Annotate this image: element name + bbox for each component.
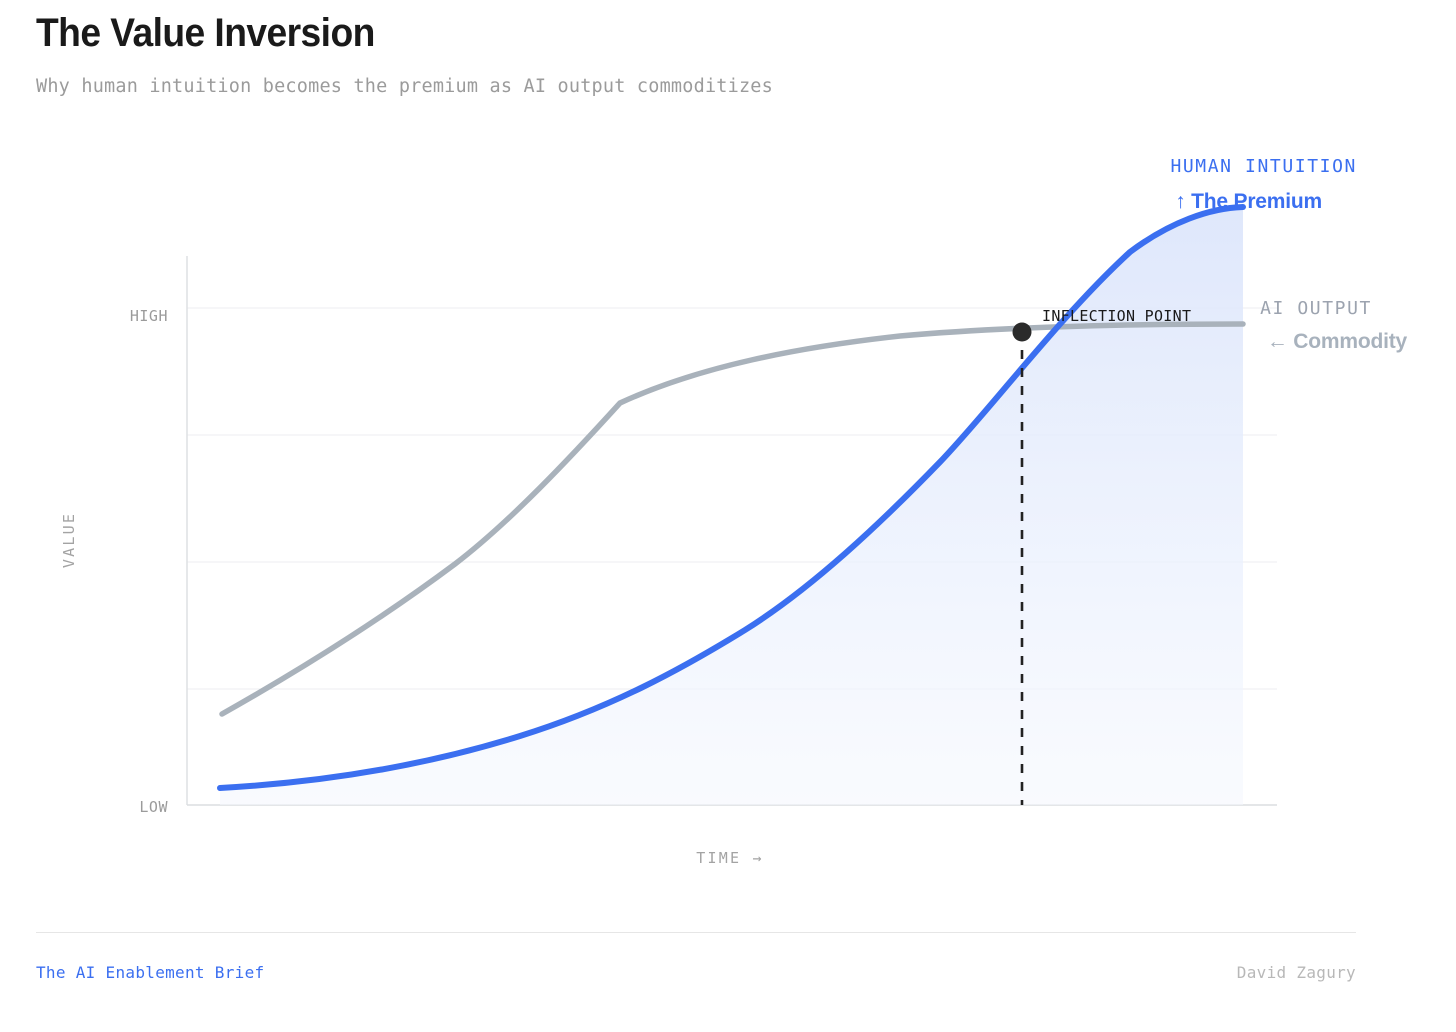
page-subtitle: Why human intuition becomes the premium … [36, 76, 1236, 97]
footer-divider [36, 932, 1356, 933]
y-axis-title: VALUE [60, 512, 78, 568]
human-intuition-kicker-label: HUMAN INTUITION [1170, 156, 1357, 177]
chart-container: INFLECTION POINT HIGH LOW VALUE TIME → H… [0, 130, 1456, 920]
inflection-point-dot [1013, 323, 1032, 342]
page-root: The Value Inversion Why human intuition … [0, 0, 1456, 1032]
ai-output-kicker-label: AI OUTPUT [1260, 298, 1372, 319]
y-tick-low: LOW [139, 798, 168, 816]
footer-author: David Zagury [1237, 963, 1356, 982]
human-intuition-note-label: ↑ The Premium [1175, 190, 1322, 213]
x-axis-title: TIME → [696, 849, 763, 867]
header: The Value Inversion Why human intuition … [36, 10, 1236, 97]
human-intuition-area [220, 207, 1243, 805]
page-title: The Value Inversion [36, 10, 1152, 56]
ai-output-note-label: ← Commodity [1267, 330, 1408, 353]
footer-publication-link[interactable]: The AI Enablement Brief [36, 963, 264, 982]
inflection-point-label: INFLECTION POINT [1042, 307, 1191, 325]
y-tick-high: HIGH [130, 307, 168, 325]
footer: The AI Enablement Brief David Zagury [36, 963, 1356, 982]
value-inversion-chart: INFLECTION POINT HIGH LOW VALUE TIME → H… [0, 130, 1456, 920]
